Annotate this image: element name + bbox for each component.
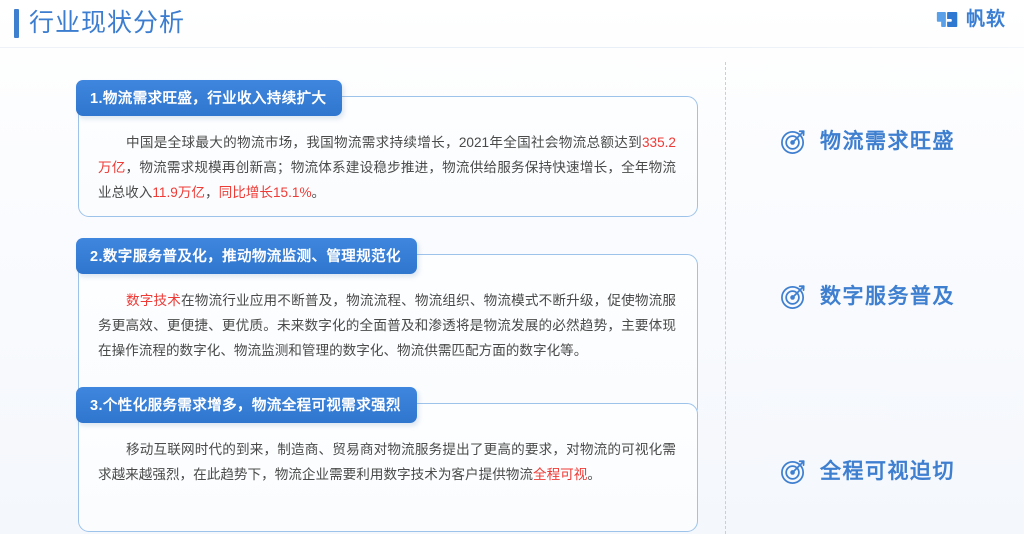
card-3-seg-1-highlight: 全程可视 bbox=[533, 467, 587, 482]
card-1-seg-4: ， bbox=[205, 185, 219, 200]
slide-header: 行业现状分析 bbox=[0, 0, 1024, 56]
summary-label-1: 物流需求旺盛 bbox=[820, 128, 955, 155]
card-1-seg-5-highlight: 同比增长15.1% bbox=[219, 185, 312, 200]
page-title: 行业现状分析 bbox=[29, 6, 185, 40]
summary-column: 物流需求旺盛 数字服务普及 bbox=[760, 62, 1010, 534]
card-badge-3: 3.个性化服务需求增多，物流全程可视需求强烈 bbox=[76, 387, 417, 423]
card-2-seg-1: 在物流行业应用不断普及，物流流程、物流组织、物流模式不断升级，促使物流服务更高效… bbox=[98, 293, 676, 358]
target-icon bbox=[780, 283, 807, 310]
card-badge-2: 2.数字服务普及化，推动物流监测、管理规范化 bbox=[76, 238, 417, 274]
title-accent-bar bbox=[14, 9, 19, 38]
header-divider bbox=[0, 47, 1024, 48]
card-body-1: 中国是全球最大的物流市场，我国物流需求持续增长，2021年全国社会物流总额达到3… bbox=[98, 130, 676, 205]
summary-label-2: 数字服务普及 bbox=[820, 283, 955, 310]
card-body-2: 数字技术在物流行业应用不断普及，物流流程、物流组织、物流模式不断升级，促使物流服… bbox=[98, 288, 676, 363]
info-card-1: 1.物流需求旺盛，行业收入持续扩大 中国是全球最大的物流市场，我国物流需求持续增… bbox=[76, 80, 698, 217]
target-icon bbox=[780, 458, 807, 485]
summary-label-3: 全程可视迫切 bbox=[820, 458, 955, 485]
brand-logo: 帆软 bbox=[936, 8, 1006, 31]
card-body-3: 移动互联网时代的到来，制造商、贸易商对物流服务提出了更高的要求，对物流的可视化需… bbox=[98, 437, 676, 487]
card-badge-1: 1.物流需求旺盛，行业收入持续扩大 bbox=[76, 80, 342, 116]
card-1-seg-6: 。 bbox=[312, 185, 326, 200]
card-2-seg-0-highlight: 数字技术 bbox=[126, 293, 181, 308]
slide-root: 行业现状分析 帆软 1.物流需求旺盛，行业收入持续扩大 中国是全球最大的物流市场… bbox=[0, 0, 1024, 534]
card-1-seg-3-highlight: 11.9万亿 bbox=[152, 185, 205, 200]
cards-column: 1.物流需求旺盛，行业收入持续扩大 中国是全球最大的物流市场，我国物流需求持续增… bbox=[76, 62, 700, 532]
vertical-dashed-divider bbox=[725, 62, 726, 534]
card-1-seg-0: 中国是全球最大的物流市场，我国物流需求持续增长，2021年全国社会物流总额达到 bbox=[126, 135, 642, 150]
card-3-seg-2: 。 bbox=[587, 467, 601, 482]
target-icon bbox=[780, 128, 807, 155]
info-card-3: 3.个性化服务需求增多，物流全程可视需求强烈 移动互联网时代的到来，制造商、贸易… bbox=[76, 387, 698, 532]
brand-name: 帆软 bbox=[966, 8, 1006, 31]
summary-item-3: 全程可视迫切 bbox=[780, 458, 955, 485]
fanruan-logo-icon bbox=[936, 8, 959, 31]
summary-item-2: 数字服务普及 bbox=[780, 283, 955, 310]
summary-item-1: 物流需求旺盛 bbox=[780, 128, 955, 155]
